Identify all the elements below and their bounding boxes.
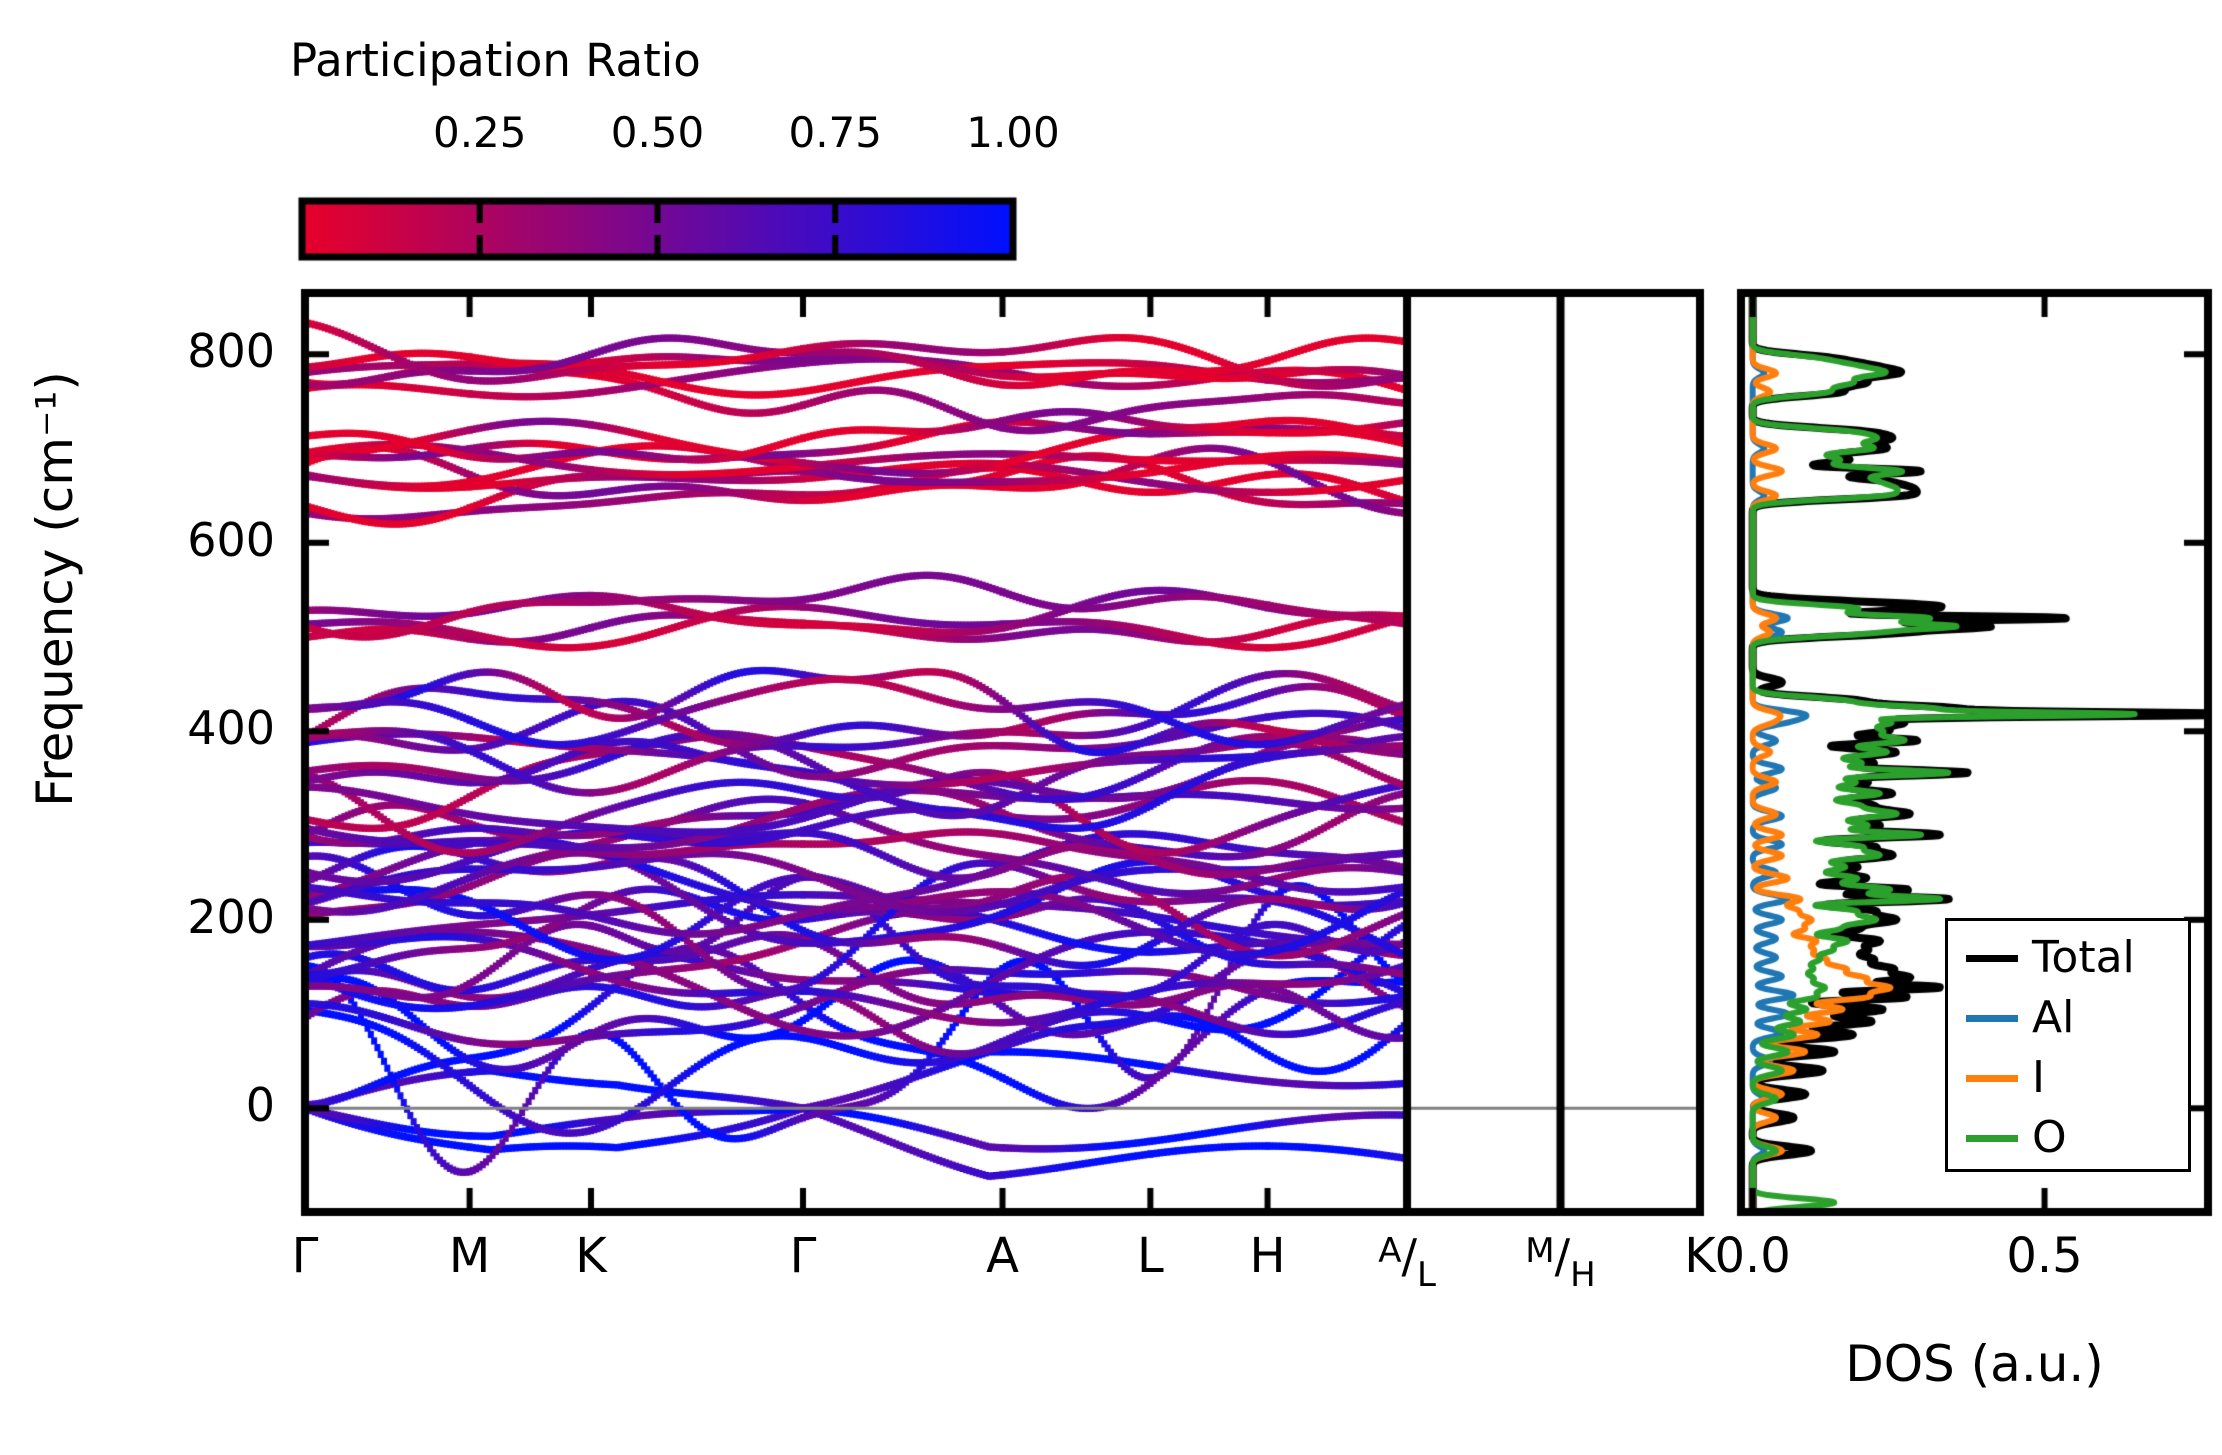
phonon-bandstructure-dos-figure: Participation Ratio 0.25 0.50 0.75 1.00 … bbox=[0, 0, 2222, 1455]
kpath-tick-label-0: Γ bbox=[225, 1228, 385, 1284]
legend-entry-i[interactable]: I bbox=[1958, 1049, 2045, 1107]
legend-label: Total bbox=[2032, 936, 2135, 980]
kpath-tick-label-4: A bbox=[923, 1228, 1083, 1284]
kpath-tick-label-2: K bbox=[511, 1228, 671, 1284]
legend-line-swatch-icon bbox=[1966, 1075, 2018, 1082]
legend-line-swatch-icon bbox=[1966, 955, 2018, 962]
legend-entry-o[interactable]: O bbox=[1958, 1109, 2067, 1167]
legend-label: Al bbox=[2032, 996, 2074, 1040]
kpath-tick-label-3: Γ bbox=[723, 1228, 883, 1284]
y-tick-label-2: 400 bbox=[60, 701, 275, 755]
kpath-tick-label-6: H bbox=[1188, 1228, 1348, 1284]
y-tick-label-4: 800 bbox=[60, 324, 275, 378]
kpath-tick-label-7: A/L bbox=[1327, 1228, 1487, 1284]
y-tick-label-1: 200 bbox=[60, 890, 275, 944]
dos-x-axis-label: DOS (a.u.) bbox=[1745, 1335, 2205, 1393]
dos-legend: TotalAlIO bbox=[1945, 918, 2191, 1172]
legend-line-swatch-icon bbox=[1966, 1135, 2018, 1142]
colorbar-tick-0: 0.25 bbox=[428, 108, 532, 157]
y-axis-label: Frequency (cm⁻¹) bbox=[26, 309, 84, 869]
legend-entry-al[interactable]: Al bbox=[1958, 989, 2074, 1047]
legend-entry-total[interactable]: Total bbox=[1958, 929, 2135, 987]
colorbar-title: Participation Ratio bbox=[290, 34, 701, 87]
legend-label: I bbox=[2032, 1056, 2045, 1100]
y-tick-label-3: 600 bbox=[60, 513, 275, 567]
colorbar-tick-1: 0.50 bbox=[606, 108, 710, 157]
y-tick-label-0: 0 bbox=[60, 1078, 275, 1132]
colorbar-tick-3: 1.00 bbox=[961, 108, 1065, 157]
dos-x-tick-1: 0.5 bbox=[1955, 1228, 2135, 1284]
kpath-tick-label-8: M/H bbox=[1481, 1228, 1641, 1284]
legend-label: O bbox=[2032, 1116, 2067, 1160]
dos-x-tick-0: 0.0 bbox=[1663, 1228, 1843, 1284]
legend-line-swatch-icon bbox=[1966, 1015, 2018, 1022]
colorbar-tick-2: 0.75 bbox=[783, 108, 887, 157]
